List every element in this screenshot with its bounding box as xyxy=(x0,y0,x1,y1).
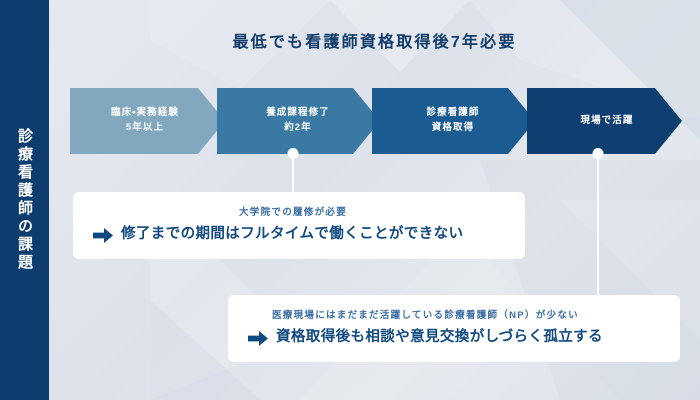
flow-step-label-1: 臨床・実務経験 5年以上 xyxy=(70,88,220,154)
connector-step2-to-callout1 xyxy=(287,148,298,194)
side-title-band: 診療看護師の課題 xyxy=(0,0,49,400)
flow-step-label-4: 現場で活躍 xyxy=(532,88,682,154)
connector-step4-to-callout2 xyxy=(592,148,603,298)
callout-card-2: 医療現場にはまだまだ活躍している診療看護師（NP）が少ない 資格取得後も相談や意… xyxy=(228,295,680,362)
flow-step-label-3: 診療看護師 資格取得 xyxy=(377,88,529,154)
callout-2-main-text: 資格取得後も相談や意見交換がしづらく孤立する xyxy=(276,329,603,346)
connector-stem xyxy=(292,154,294,194)
flow-step-1-line1: 臨床・実務経験 xyxy=(111,106,179,121)
callout-2-main-row: 資格取得後も相談や意見交換がしづらく孤立する xyxy=(248,329,680,346)
flow-step-label-2: 養成課程修了 約2年 xyxy=(222,88,374,154)
flow-step-4-line1: 現場で活躍 xyxy=(580,114,633,129)
flow-step-3-line2: 資格取得 xyxy=(432,121,474,136)
callout-card-1: 大学院での履修が必要 修了までの期間はフルタイムで働くことができない xyxy=(73,192,525,259)
callout-1-main-text: 修了までの期間はフルタイムで働くことができない xyxy=(121,226,463,243)
flow-step-2-line1: 養成課程修了 xyxy=(266,106,330,121)
page-title: 最低でも看護師資格取得後7年必要 xyxy=(49,28,700,52)
arrow-right-icon xyxy=(248,331,268,346)
callout-2-lead: 医療現場にはまだまだ活躍している診療看護師（NP）が少ない xyxy=(272,310,680,322)
connector-dot xyxy=(287,148,298,159)
process-flow: 臨床・実務経験 5年以上 養成課程修了 約2年 診療看護師 資格取得 現場で活躍 xyxy=(70,88,682,154)
flow-step-1-line2: 5年以上 xyxy=(126,121,164,136)
callout-1-main-row: 修了までの期間はフルタイムで働くことができない xyxy=(93,226,525,243)
flow-step-2-line2: 約2年 xyxy=(284,121,312,136)
arrow-right-icon xyxy=(93,228,113,243)
connector-stem xyxy=(597,154,599,298)
side-title-label: 診療看護師の課題 xyxy=(17,128,32,272)
infographic-root: 診療看護師の課題 最低でも看護師資格取得後7年必要 臨床・実務経験 5年以上 養… xyxy=(0,0,700,400)
connector-dot xyxy=(592,148,603,159)
callout-1-lead: 大学院での履修が必要 xyxy=(239,207,525,219)
flow-step-3-line1: 診療看護師 xyxy=(426,106,479,121)
